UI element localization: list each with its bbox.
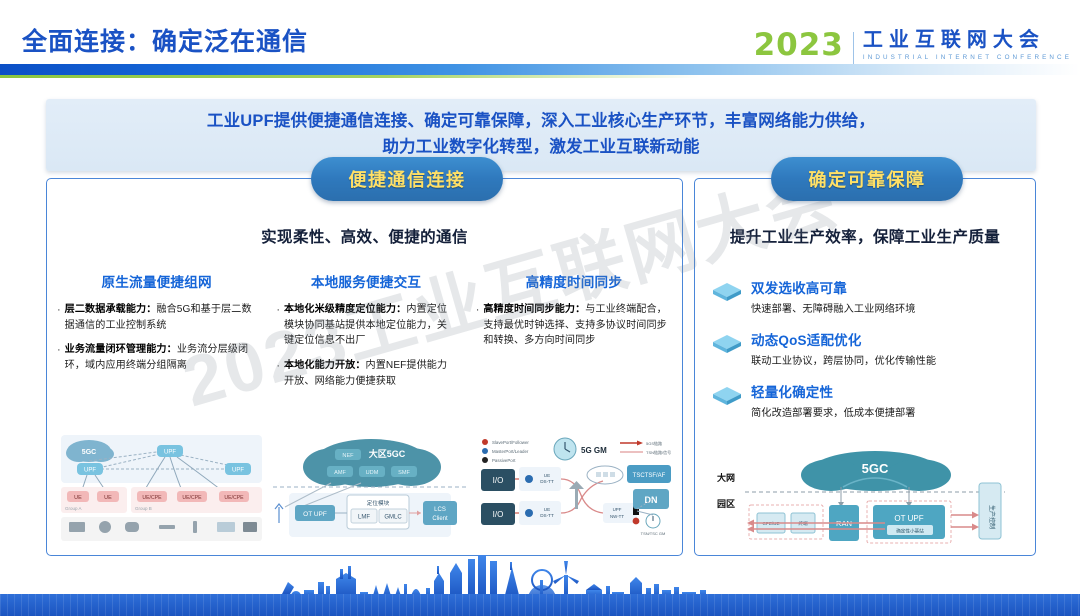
column-heading: 高精度时间同步	[476, 271, 672, 291]
diagram-local-positioning-topology: 大区5GC NEF AMF UDM SMF OT UPF 定位模块 LMF GM…	[271, 433, 469, 543]
ue-node-label-2: DS-TT	[540, 479, 554, 484]
left-panel-subtitle: 实现柔性、高效、便捷的通信	[47, 225, 682, 247]
header-accent-bar	[0, 64, 1080, 75]
bullet-item: · 层二数据承载能力：融合5G和基于层二数据通信的工业控制系统	[57, 302, 256, 333]
legend-label: MasterPort/Leader	[492, 449, 529, 454]
bullet-bold: 层二数据承载能力：	[65, 304, 157, 315]
column-heading: 原生流量便捷组网	[57, 271, 256, 291]
terminal-label: UE	[74, 495, 82, 501]
group-label: Group A	[65, 506, 82, 511]
cube-icon	[711, 329, 747, 355]
module-title: 定位模块	[367, 499, 390, 507]
column-time-sync: 高精度时间同步 · 高精度时间同步能力：与工业终端配合，支持最优时钟选择、支持多…	[466, 271, 682, 399]
cube-icon	[711, 381, 747, 407]
feature-title: 轻量化确定性	[751, 381, 916, 401]
feature-text: 轻量化确定性 简化改造部署要求，低成本便捷部署	[747, 381, 916, 419]
cloud-label: 5GC	[862, 461, 889, 476]
bullet-bold: 高精度时间同步能力：	[483, 304, 585, 315]
page-title: 全面连接：确定泛在通信	[22, 22, 308, 58]
right-panel-pill: 确定可靠保障	[771, 157, 963, 201]
bullet-bold: 业务流量闭环管理能力：	[65, 344, 177, 355]
left-panel-pill: 便捷通信连接	[311, 157, 503, 201]
header-accent-bar-green	[0, 75, 700, 78]
node-label: UPF	[164, 450, 176, 456]
bullet-item: · 高精度时间同步能力：与工业终端配合，支持最优时钟选择、支持多协议时间同步和转…	[476, 302, 672, 349]
column-local-service: 本地服务便捷交互 · 本地化米级精度定位能力：内置定位模块协同基站提供本地定位能…	[266, 271, 465, 399]
node-label: UPF	[84, 468, 96, 474]
terminal-label: UE	[104, 495, 112, 501]
ue-node-label: UE	[544, 507, 550, 512]
link-label: TSN链路/信号	[646, 449, 671, 455]
cloud-label: 大区5GC	[369, 448, 406, 459]
ue-node-label: UE	[544, 473, 550, 478]
sub-node-label: 确定性小基站	[896, 528, 924, 535]
upf-node-label-2: NW-TT	[610, 514, 624, 519]
right-panel-subtitle: 提升工业生产效率，保障工业生产质量	[695, 225, 1035, 247]
side-label: 生产控制	[988, 505, 996, 529]
left-panel: 便捷通信连接 实现柔性、高效、便捷的通信 原生流量便捷组网 · 层二数据承载能力…	[46, 178, 683, 556]
cloud-node-label: SMF	[398, 470, 410, 476]
column-heading: 本地服务便捷交互	[276, 271, 455, 291]
zone-label-campus: 园区	[717, 499, 735, 509]
io-node-label: I/O	[493, 510, 504, 519]
logo-english-name: INDUSTRIAL INTERNET CONFERENCE	[863, 54, 1072, 61]
network-node-label: TSCTSF/AF	[633, 473, 666, 479]
footer-band	[0, 594, 1080, 616]
right-panel: 确定可靠保障 提升工业生产效率，保障工业生产质量 双发选收高可靠 快速部署、无障…	[694, 178, 1036, 556]
logo-chinese-name: 工业互联网大会	[863, 30, 1072, 51]
bullet-dot: ·	[276, 302, 280, 349]
link-label: 5GS链路	[646, 440, 662, 446]
terminal-label: UE/CPE	[182, 495, 202, 501]
bullet-item: · 本地化能力开放：内置NEF提供能力开放、网络能力便捷获取	[276, 358, 455, 389]
io-node-label: I/O	[493, 476, 504, 485]
diagram-5gc-upf-topology: 5GC UPF UPF UPF UE UE Group A UE/CPE UE/…	[59, 433, 264, 543]
feature-desc: 联动工业协议，跨层协同，优化传输性能	[751, 352, 936, 367]
terminal-label: UE/CPE	[142, 495, 162, 501]
diagram-time-sync-topology: SlavePort/Follower MasterPort/Leader Pas…	[477, 433, 673, 543]
legend-label: SlavePort/Follower	[492, 440, 529, 445]
cloud-node-label: UDM	[366, 470, 379, 476]
feature-item-reliability: 双发选收高可靠 快速部署、无障碍融入工业网络环境	[711, 277, 1023, 315]
banner-line-1: 工业UPF提供便捷通信连接、确定可靠保障，深入工业核心生产环节，丰富网络能力供给…	[207, 109, 875, 135]
node-label: UPF	[232, 468, 244, 474]
zone-label-wan: 大网	[717, 472, 735, 483]
cloud-label: 5GC	[82, 449, 96, 456]
module-node-label: LMF	[358, 515, 370, 521]
bullet-bold: 本地化米级精度定位能力：	[284, 304, 406, 315]
feature-desc: 简化改造部署要求，低成本便捷部署	[751, 404, 916, 419]
page-header: 全面连接：确定泛在通信 2023 中国·常州 4月14日—16日 工业互联网大会…	[0, 0, 1080, 90]
logo-year: 2023	[754, 30, 844, 61]
feature-text: 双发选收高可靠 快速部署、无障碍融入工业网络环境	[747, 277, 916, 315]
ue-node-label-2: DS-TT	[540, 513, 554, 518]
bullet-dot: ·	[57, 302, 61, 333]
bullet-dot: ·	[276, 358, 280, 389]
cloud-node-label: NEF	[342, 453, 354, 459]
node-label-otupf: OT UPF	[894, 514, 923, 523]
module-node-label: GMLC	[384, 515, 402, 521]
feature-desc: 快速部署、无障碍融入工业网络环境	[751, 300, 916, 315]
bullet-dot: ·	[57, 342, 61, 373]
bullet-item: · 本地化米级精度定位能力：内置定位模块协同基站提供本地定位能力，关键定位信息不…	[276, 302, 455, 349]
left-panel-columns: 原生流量便捷组网 · 层二数据承载能力：融合5G和基于层二数据通信的工业控制系统…	[47, 271, 682, 399]
diagram-wan-campus-topology: 5GC 大网 园区 CPE/UE 终端 RAN OT UPF 确定性小基站 生产…	[705, 447, 1027, 547]
group-label: Group B	[135, 506, 152, 511]
feature-text: 动态QoS适配优化 联动工业协议，跨层协同，优化传输性能	[747, 329, 936, 367]
feature-title: 动态QoS适配优化	[751, 329, 936, 349]
grandmaster-label: 5G GM	[581, 446, 607, 455]
legend-label: PassivePort	[492, 458, 516, 463]
edge-node-label: OT UPF	[303, 511, 327, 518]
feature-item-qos: 动态QoS适配优化 联动工业协议，跨层协同，优化传输性能	[711, 329, 1023, 367]
client-label: LCS	[434, 507, 446, 513]
terminal-label: UE/CPE	[224, 495, 244, 501]
cube-icon	[711, 277, 747, 303]
bullet-bold: 本地化能力开放：	[284, 360, 366, 371]
column-native-traffic: 原生流量便捷组网 · 层二数据承载能力：融合5G和基于层二数据通信的工业控制系统…	[47, 271, 266, 399]
page-footer	[0, 554, 1080, 616]
cloud-node-label: AMF	[334, 470, 346, 476]
clock-label: TSN/TSC GM	[641, 531, 666, 536]
upf-node-label: UPF	[613, 507, 622, 512]
client-label-2: Client	[432, 516, 448, 522]
bullet-dot: ·	[476, 302, 480, 349]
feature-item-lightweight: 轻量化确定性 简化改造部署要求，低成本便捷部署	[711, 381, 1023, 419]
feature-title: 双发选收高可靠	[751, 277, 916, 297]
bullet-item: · 业务流量闭环管理能力：业务流分层级闭环，域内应用终端分组隔离	[57, 342, 256, 373]
